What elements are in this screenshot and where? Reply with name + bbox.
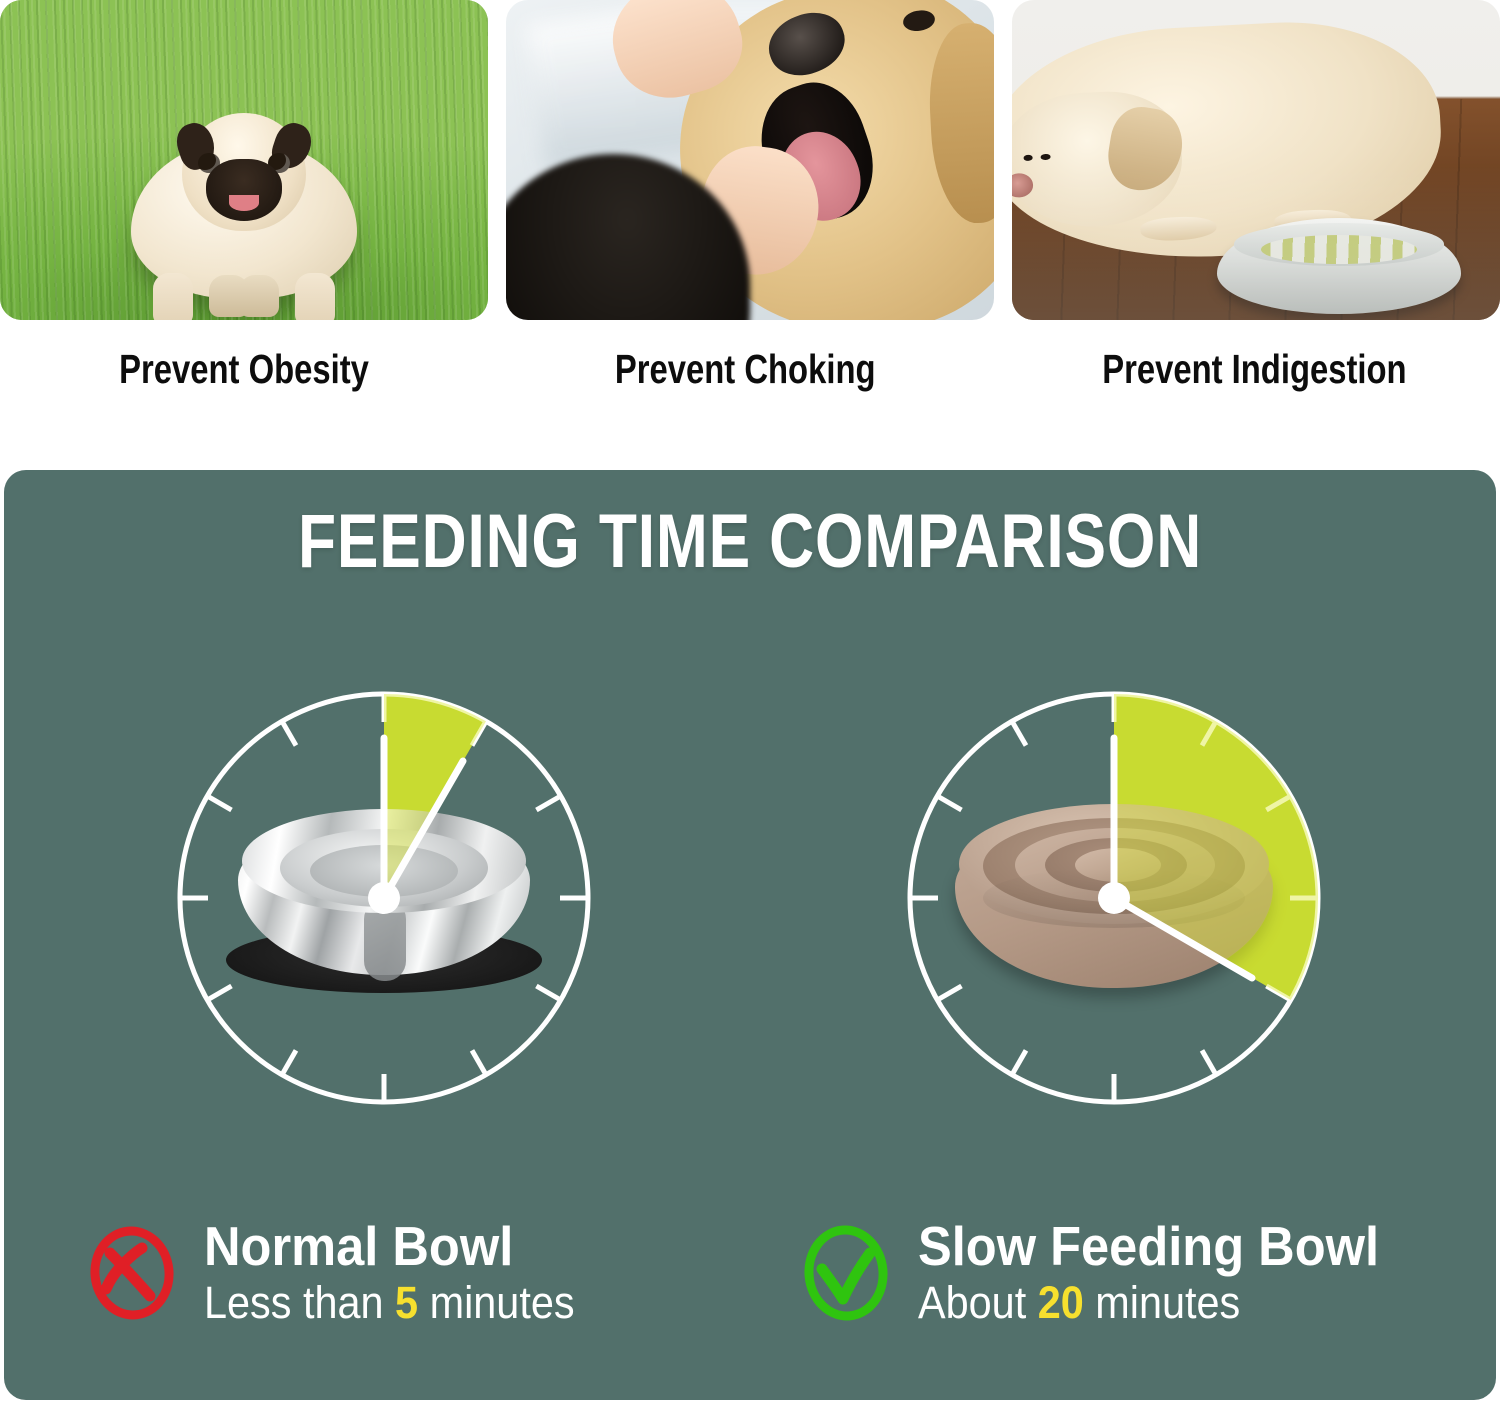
sub-suffix: minutes — [430, 1277, 575, 1328]
check-icon — [796, 1223, 896, 1323]
panel-title: FEEDING TIME COMPARISON — [138, 498, 1361, 585]
sub-prefix: About — [918, 1277, 1026, 1328]
photo-overweight-pug-on-grass — [0, 0, 488, 320]
result-subtitle-slow-feeding-bowl: About 20 minutes — [918, 1278, 1379, 1328]
benefit-caption-indigestion: Prevent Indigestion — [1059, 346, 1449, 393]
feeding-time-comparison-panel: FEEDING TIME COMPARISON — [4, 470, 1496, 1400]
result-subtitle-normal-bowl: Less than 5 minutes — [204, 1278, 575, 1328]
photo-golden-retriever-mouth-check — [506, 0, 994, 320]
clock-dial-slow-feeding-bowl — [894, 678, 1334, 1118]
photo-labrador-lying-beside-bowl — [1012, 0, 1500, 320]
benefit-card-choking: Prevent Choking — [506, 0, 994, 440]
benefit-caption-choking: Prevent Choking — [550, 346, 940, 393]
result-title-normal-bowl: Normal Bowl — [204, 1218, 575, 1274]
wedge-5-minutes — [384, 694, 486, 898]
pug-illustration — [119, 109, 369, 320]
results-row: Normal Bowl Less than 5 minutes Slow Fee… — [4, 1218, 1496, 1348]
result-title-slow-feeding-bowl: Slow Feeding Bowl — [918, 1218, 1379, 1274]
sub-value: 5 — [395, 1277, 418, 1328]
benefit-card-indigestion: Prevent Indigestion — [1012, 0, 1500, 440]
benefits-row: Prevent Obesity — [0, 0, 1500, 440]
sub-value: 20 — [1038, 1277, 1084, 1328]
clock-face-normal — [164, 678, 604, 1118]
benefit-caption-obesity: Prevent Obesity — [49, 346, 439, 393]
sub-prefix: Less than — [204, 1277, 384, 1328]
sub-suffix: minutes — [1095, 1277, 1240, 1328]
wedge-20-minutes — [1114, 694, 1318, 1000]
clock-dial-normal-bowl — [164, 678, 604, 1118]
infographic-page: Prevent Obesity — [0, 0, 1500, 1405]
clock-face-slow — [894, 678, 1334, 1118]
cross-icon — [82, 1223, 182, 1323]
result-normal-bowl: Normal Bowl Less than 5 minutes — [82, 1218, 607, 1328]
result-slow-feeding-bowl: Slow Feeding Bowl About 20 minutes — [796, 1218, 1419, 1328]
benefit-card-obesity: Prevent Obesity — [0, 0, 488, 440]
